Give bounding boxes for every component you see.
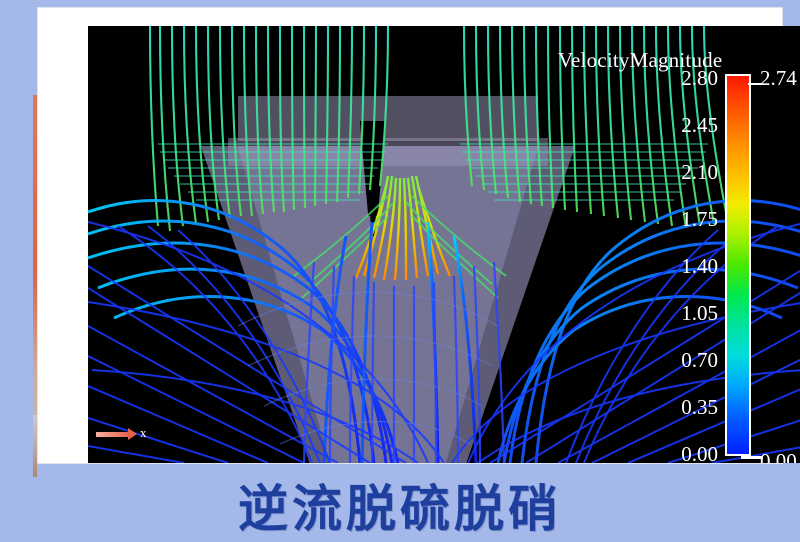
cfd-plot-canvas: x VelocityMagnitude 2.80 2.45 2.10 1.75 … xyxy=(88,26,800,463)
figure-frame: x VelocityMagnitude 2.80 2.45 2.10 1.75 … xyxy=(38,8,782,463)
left-edge-marker-strip xyxy=(33,95,37,415)
slide-caption: 逆流脱硫脱硝 xyxy=(0,468,800,542)
x-axis-arrow-head xyxy=(128,428,137,440)
x-axis-label: x xyxy=(140,425,147,441)
axis-triad: x xyxy=(96,421,156,451)
streamline-field xyxy=(88,26,800,463)
slide: x VelocityMagnitude 2.80 2.45 2.10 1.75 … xyxy=(0,0,800,542)
x-axis-arrow-shaft xyxy=(96,432,130,437)
